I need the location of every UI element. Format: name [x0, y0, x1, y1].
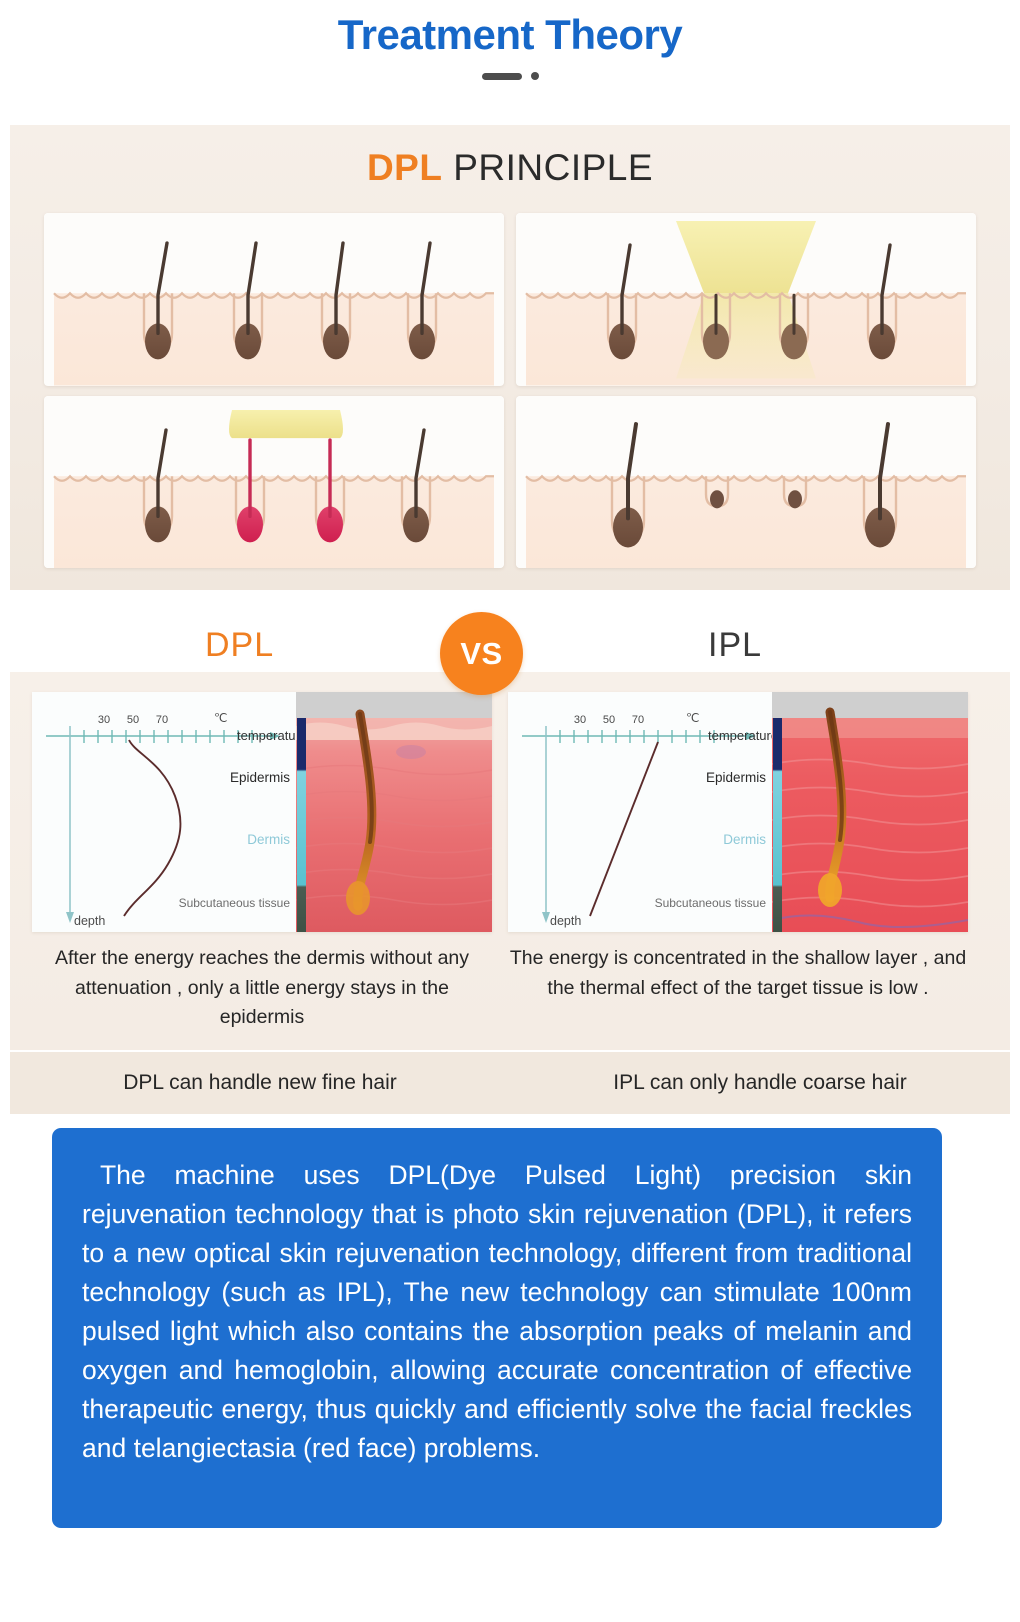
- dpl-principle-section: DPL PRINCIPLE: [10, 125, 1010, 590]
- principle-heading: DPL PRINCIPLE: [10, 125, 1010, 189]
- ipl-chart-svg: 30 50 70 ℃ depth: [508, 692, 772, 932]
- follicle-diagram-heated: [44, 396, 504, 569]
- summary-dpl: DPL can handle new fine hair: [10, 1071, 510, 1095]
- principle-heading-rest: PRINCIPLE: [442, 147, 653, 188]
- versus-badge: VS: [440, 612, 523, 695]
- dpl-tick-30: 30: [98, 714, 110, 726]
- ipl-tick-50: 50: [603, 714, 615, 726]
- ipl-axis-label-depth: depth: [550, 914, 581, 928]
- principle-panel-grid: [44, 213, 976, 568]
- title-decoration: [0, 72, 1020, 80]
- page-header: Treatment Theory: [0, 0, 1020, 80]
- principle-panel-normal-follicles: [44, 213, 504, 386]
- dpl-tick-70: 70: [156, 714, 168, 726]
- comparison-column-ipl: 30 50 70 ℃ depth temperature Epidermis D…: [508, 692, 968, 1003]
- dpl-skin-cross-section: [296, 692, 492, 932]
- principle-panel-light-applied: [516, 213, 976, 386]
- dpl-temperature-chart: 30 50 70 ℃ depth temperature Epidermis D…: [32, 692, 492, 932]
- comparison-section: 30 50 70 ℃ depth temperature Epidermis D…: [10, 672, 1010, 1050]
- description-text: The machine uses DPL(Dye Pulsed Light) p…: [82, 1156, 912, 1468]
- dpl-axis-label-depth: depth: [74, 914, 105, 928]
- follicle-diagram-destroyed: [516, 396, 976, 569]
- dot-icon: [531, 72, 539, 80]
- principle-panel-follicles-destroyed: [516, 396, 976, 569]
- ipl-temperature-chart: 30 50 70 ℃ depth temperature Epidermis D…: [508, 692, 968, 932]
- ipl-tick-70: 70: [632, 714, 644, 726]
- dpl-unit-celsius: ℃: [214, 711, 227, 725]
- ipl-caption: The energy is concentrated in the shallo…: [508, 944, 968, 1003]
- principle-panel-follicles-heated: [44, 396, 504, 569]
- ipl-unit-celsius: ℃: [686, 711, 699, 725]
- page-title: Treatment Theory: [0, 14, 1020, 56]
- dash-icon: [482, 73, 522, 80]
- summary-strip: DPL can handle new fine hair IPL can onl…: [10, 1052, 1010, 1114]
- dpl-chart-svg: 30 50 70 ℃ depth: [32, 692, 296, 932]
- dpl-tick-50: 50: [127, 714, 139, 726]
- versus-label-dpl: DPL: [205, 626, 274, 665]
- ipl-skin-cross-section: [772, 692, 968, 932]
- follicle-diagram-light-applied: [516, 213, 976, 386]
- comparison-column-dpl: 30 50 70 ℃ depth temperature Epidermis D…: [32, 692, 492, 1033]
- versus-label-ipl: IPL: [708, 626, 762, 665]
- dpl-caption: After the energy reaches the dermis with…: [32, 944, 492, 1033]
- summary-ipl: IPL can only handle coarse hair: [510, 1071, 1010, 1095]
- principle-heading-accent: DPL: [367, 147, 443, 188]
- follicle-diagram-normal: [44, 213, 504, 386]
- description-block: The machine uses DPL(Dye Pulsed Light) p…: [52, 1128, 942, 1528]
- ipl-tick-30: 30: [574, 714, 586, 726]
